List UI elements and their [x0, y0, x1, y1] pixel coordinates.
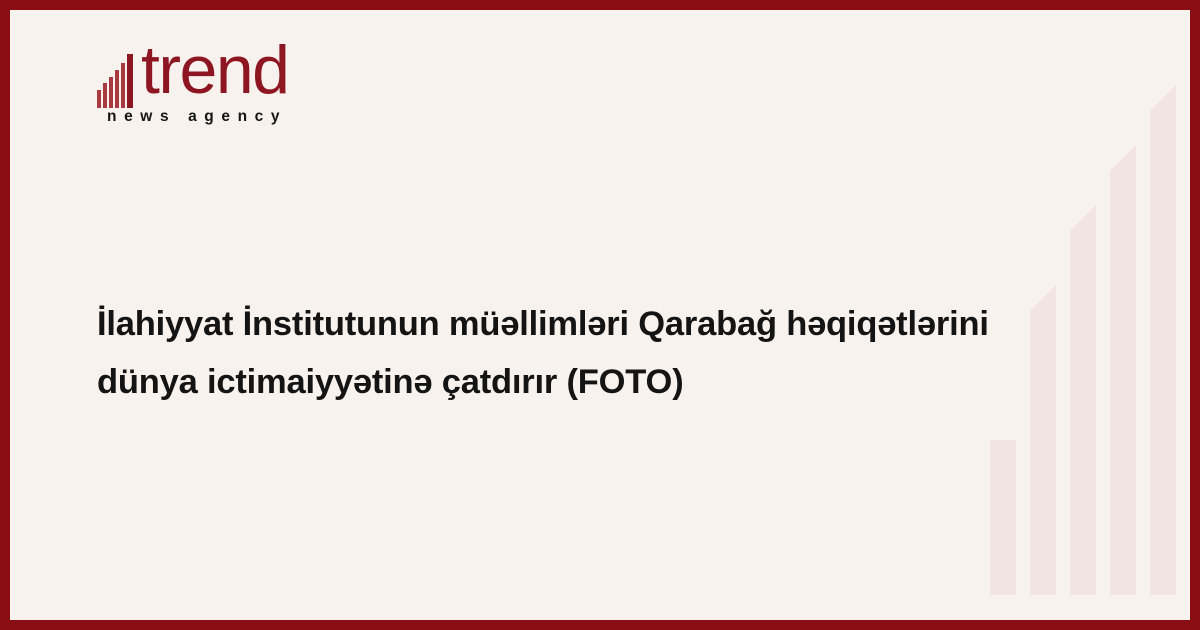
logo-bar-4: [115, 70, 119, 108]
brand-logo[interactable]: trend news agency: [97, 48, 397, 140]
logo-bar-5: [121, 63, 125, 108]
card-canvas: trend news agency İlahiyyat İnstitutunun…: [10, 10, 1190, 620]
headline-line-1: İlahiyyat İnstitutunun müəllimləri Qarab…: [97, 295, 1097, 353]
logo-bar-3: [109, 77, 113, 108]
headline: İlahiyyat İnstitutunun müəllimləri Qarab…: [97, 295, 1097, 411]
logo-bar-2: [103, 83, 107, 108]
ascending-bars-icon: [97, 54, 143, 108]
social-share-card: trend news agency İlahiyyat İnstitutunun…: [0, 0, 1200, 630]
decoration-bar-5: [1150, 85, 1176, 595]
brand-wordmark: trend: [141, 36, 289, 104]
logo-bar-6: [127, 54, 133, 108]
decoration-bar-1: [990, 440, 1016, 595]
logo-mark-svg: [97, 54, 143, 108]
decoration-bar-4: [1110, 145, 1136, 595]
logo-bar-1: [97, 90, 101, 108]
brand-tagline: news agency: [107, 108, 287, 126]
headline-line-2: dünya ictimaiyyətinə çatdırır (FOTO): [97, 353, 1097, 411]
